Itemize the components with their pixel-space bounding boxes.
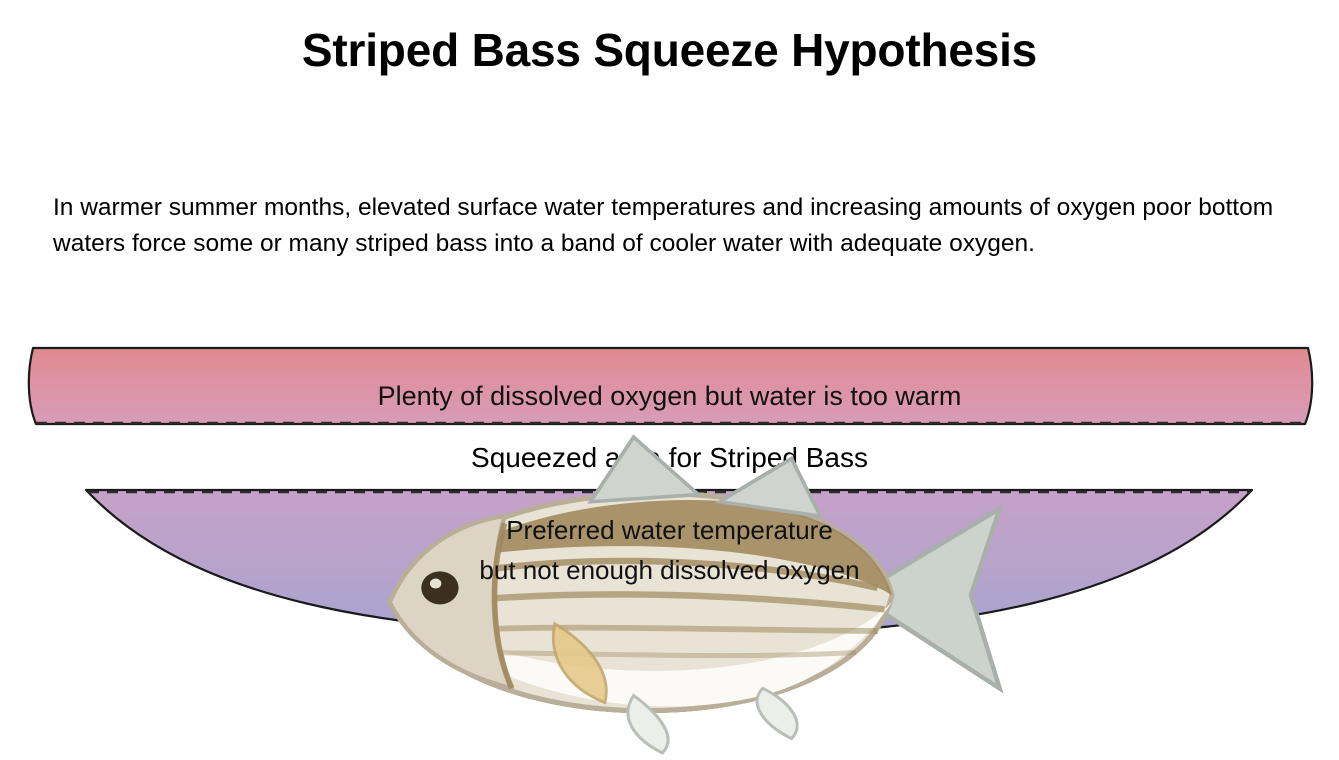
fish-group-right	[876, 435, 1170, 481]
squeezed-layer-row: Squeezed area for Striped Bass	[0, 430, 1339, 486]
intro-paragraph: In warmer summer months, elevated surfac…	[53, 190, 1288, 262]
squeeze-diagram: Plenty of dissolved oxygen but water is …	[0, 330, 1339, 660]
warm-water-layer	[29, 348, 1312, 424]
page-title: Striped Bass Squeeze Hypothesis	[0, 22, 1339, 78]
striped-bass-icon	[1072, 435, 1170, 481]
